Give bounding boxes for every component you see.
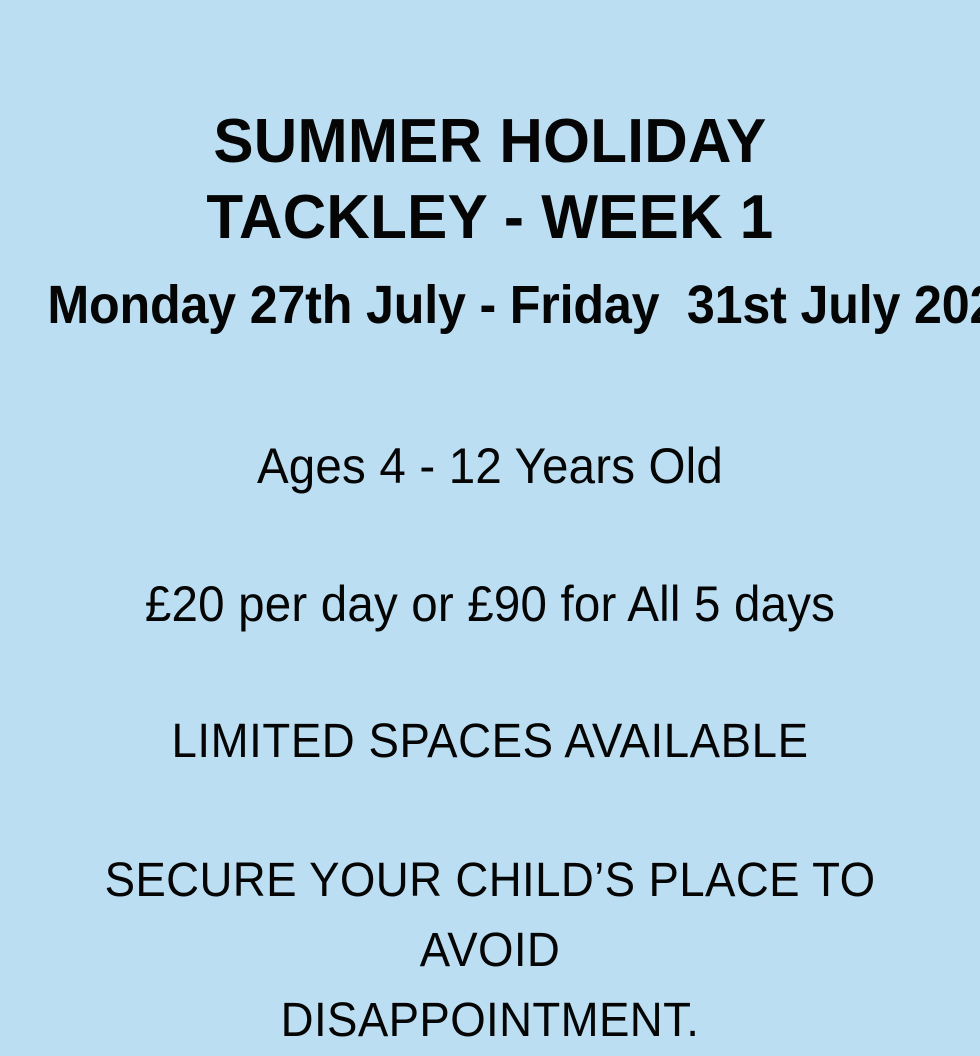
pricing-text: £20 per day or £90 for All 5 days — [38, 494, 942, 632]
headline-line-1: SUMMER HOLIDAY — [28, 104, 951, 180]
page-title: SUMMER HOLIDAY TACKLEY - WEEK 1 — [14, 0, 966, 256]
headline-line-2: TACKLEY - WEEK 1 — [28, 180, 951, 256]
promo-poster: SUMMER HOLIDAY TACKLEY - WEEK 1 Monday 2… — [0, 0, 980, 980]
date-range-text: Monday 27th July - Friday 31st July 2026 — [47, 256, 932, 336]
availability-text: LIMITED SPACES AVAILABLE — [38, 632, 942, 770]
age-range-text: Ages 4 - 12 Years Old — [38, 336, 942, 494]
call-to-action-text: SECURE YOUR CHILD’S PLACE TO AVOID DISAP… — [38, 770, 942, 1056]
